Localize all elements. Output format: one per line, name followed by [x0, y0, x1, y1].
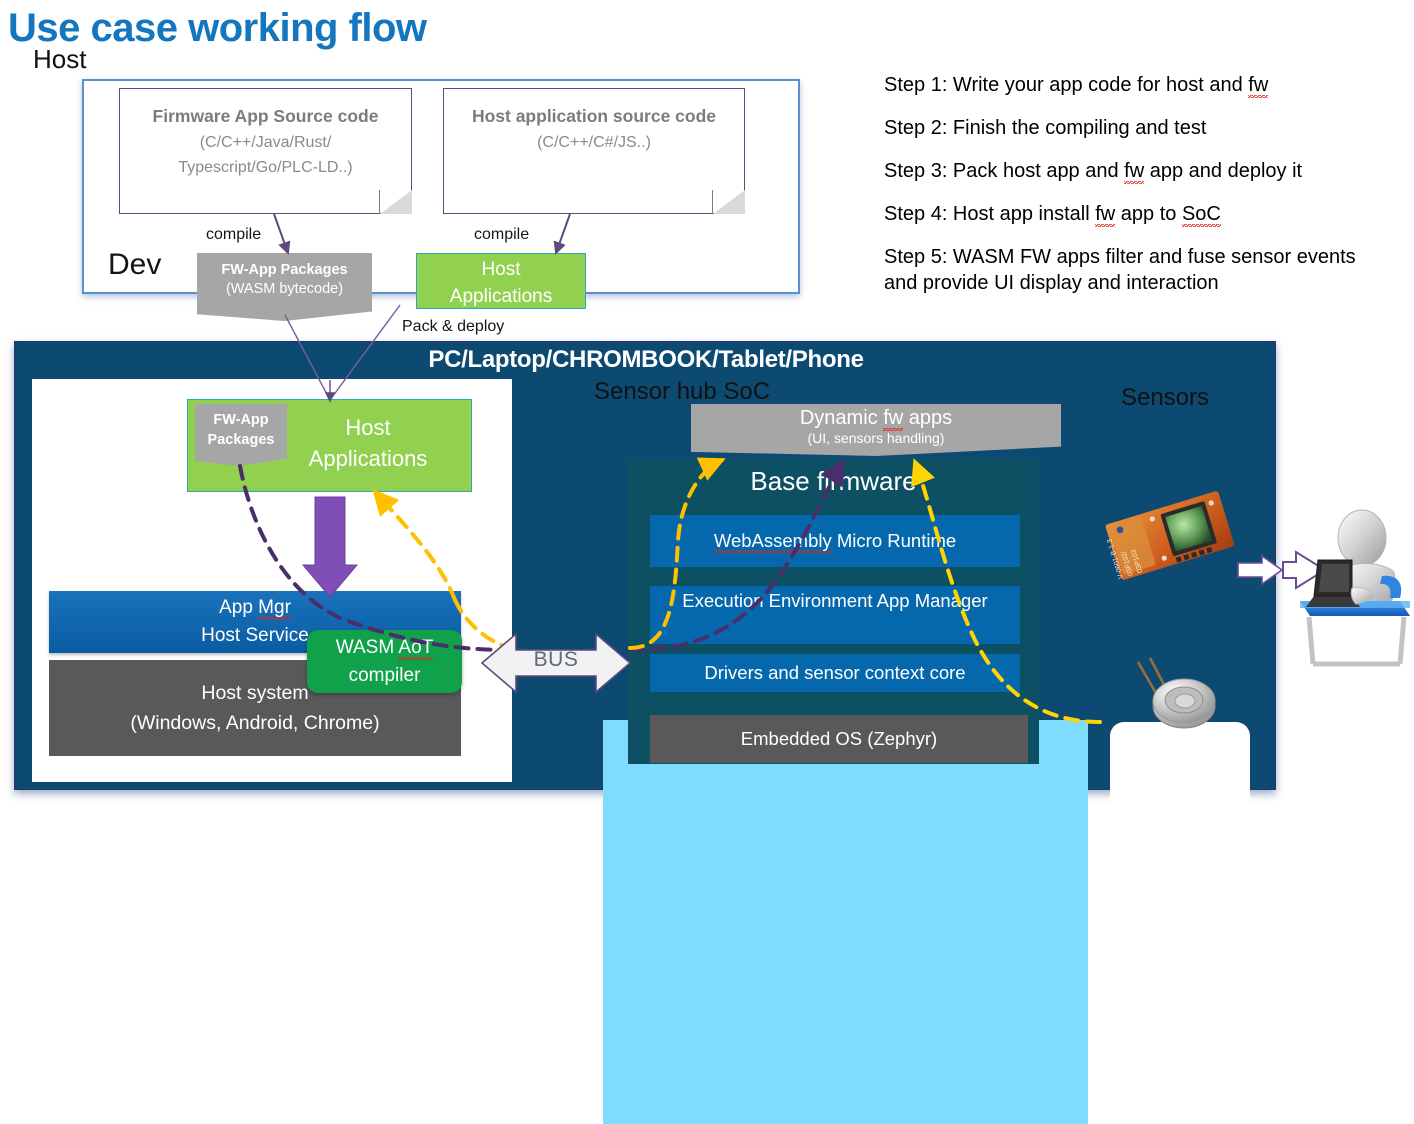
- page-fold-icon: [712, 190, 745, 214]
- dev-label: Dev: [108, 248, 161, 282]
- fw-app-packages-box: FW-App Packages (WASM bytecode): [197, 253, 372, 321]
- bus-label: BUS: [482, 648, 630, 672]
- host-source-box: Host application source code (C/C++/C#/J…: [443, 88, 745, 214]
- layer-embedded-os: Embedded OS (Zephyr): [650, 715, 1028, 763]
- pack-deploy-label: Pack & deploy: [402, 318, 504, 336]
- fw-app-packages-line1: FW-App Packages: [197, 262, 372, 278]
- layer-drivers-sensor-context-core: Drivers and sensor context core: [650, 654, 1020, 692]
- app-manager-label: App Mgr Host Service: [201, 597, 309, 646]
- firmware-source-box: Firmware App Source code (C/C++/Java/Rus…: [119, 88, 412, 214]
- step-item: Step 1: Write your app code for host and…: [884, 72, 1404, 98]
- compile-label-right: compile: [474, 226, 529, 244]
- step-item: Step 4: Host app install fw app to SoC: [884, 201, 1404, 227]
- user-at-desk-image: [1300, 510, 1410, 664]
- host-label: Host: [33, 44, 86, 75]
- firmware-source-subtitle: (C/C++/Java/Rust/ Typescript/Go/PLC-LD..…: [120, 130, 411, 180]
- fw-app-packages-line2: (WASM bytecode): [197, 281, 372, 297]
- layer-execution-environment-app-manager: Execution Environment App Manager: [650, 586, 1020, 644]
- dynamic-fw-apps-box: Dynamic fw apps (UI, sensors handling): [691, 404, 1061, 456]
- page-title: Use case working flow: [8, 2, 708, 54]
- step-text: Step 1: Write your app code for host and…: [884, 74, 1268, 98]
- host-source-subtitle: (C/C++/C#/JS..): [444, 130, 744, 155]
- step-text: Step 2: Finish the compiling and test: [884, 117, 1206, 139]
- firmware-source-title: Firmware App Source code: [120, 106, 411, 127]
- host-source-title: Host application source code: [444, 106, 744, 127]
- step-item: Step 5: WASM FW apps filter and fuse sen…: [884, 244, 1389, 296]
- wasm-aot-compiler-block: WASM AoT compiler: [307, 630, 462, 693]
- layer-webassembly-micro-runtime: WebAssembly Micro Runtime: [650, 515, 1020, 567]
- step-item: Step 3: Pack host app and fw app and dep…: [884, 158, 1404, 184]
- host-applications-label: Host Applications: [273, 412, 463, 474]
- page-fold-icon: [379, 190, 412, 214]
- step-text: Step 4: Host app install fw app to SoC: [884, 203, 1221, 227]
- steps-list: Step 1: Write your app code for host and…: [884, 72, 1404, 313]
- fw-app-packages-inner: FW-App Packages: [195, 404, 287, 466]
- soc-panel: [603, 720, 1088, 1124]
- base-firmware-title: Base firmware: [628, 466, 1039, 497]
- sensors-panel: [1110, 722, 1250, 1122]
- step-item: Step 2: Finish the compiling and test: [884, 115, 1404, 141]
- dynamic-fw-apps-line1: Dynamic fw apps: [691, 407, 1061, 430]
- dynamic-fw-apps-line2: (UI, sensors handling): [691, 430, 1061, 446]
- step-text: Step 3: Pack host app and fw app and dep…: [884, 160, 1302, 184]
- compile-label-left: compile: [206, 226, 261, 244]
- platform-title: PC/Laptop/CHROMBOOK/Tablet/Phone: [15, 346, 1277, 374]
- output-arrow-icon: [1283, 552, 1325, 588]
- soc-label: Sensor hub SoC: [594, 378, 770, 406]
- sensors-label: Sensors: [1095, 384, 1235, 412]
- step-text: Step 5: WASM FW apps filter and fuse sen…: [884, 246, 1356, 294]
- host-applications-box-top: Host Applications: [416, 253, 586, 309]
